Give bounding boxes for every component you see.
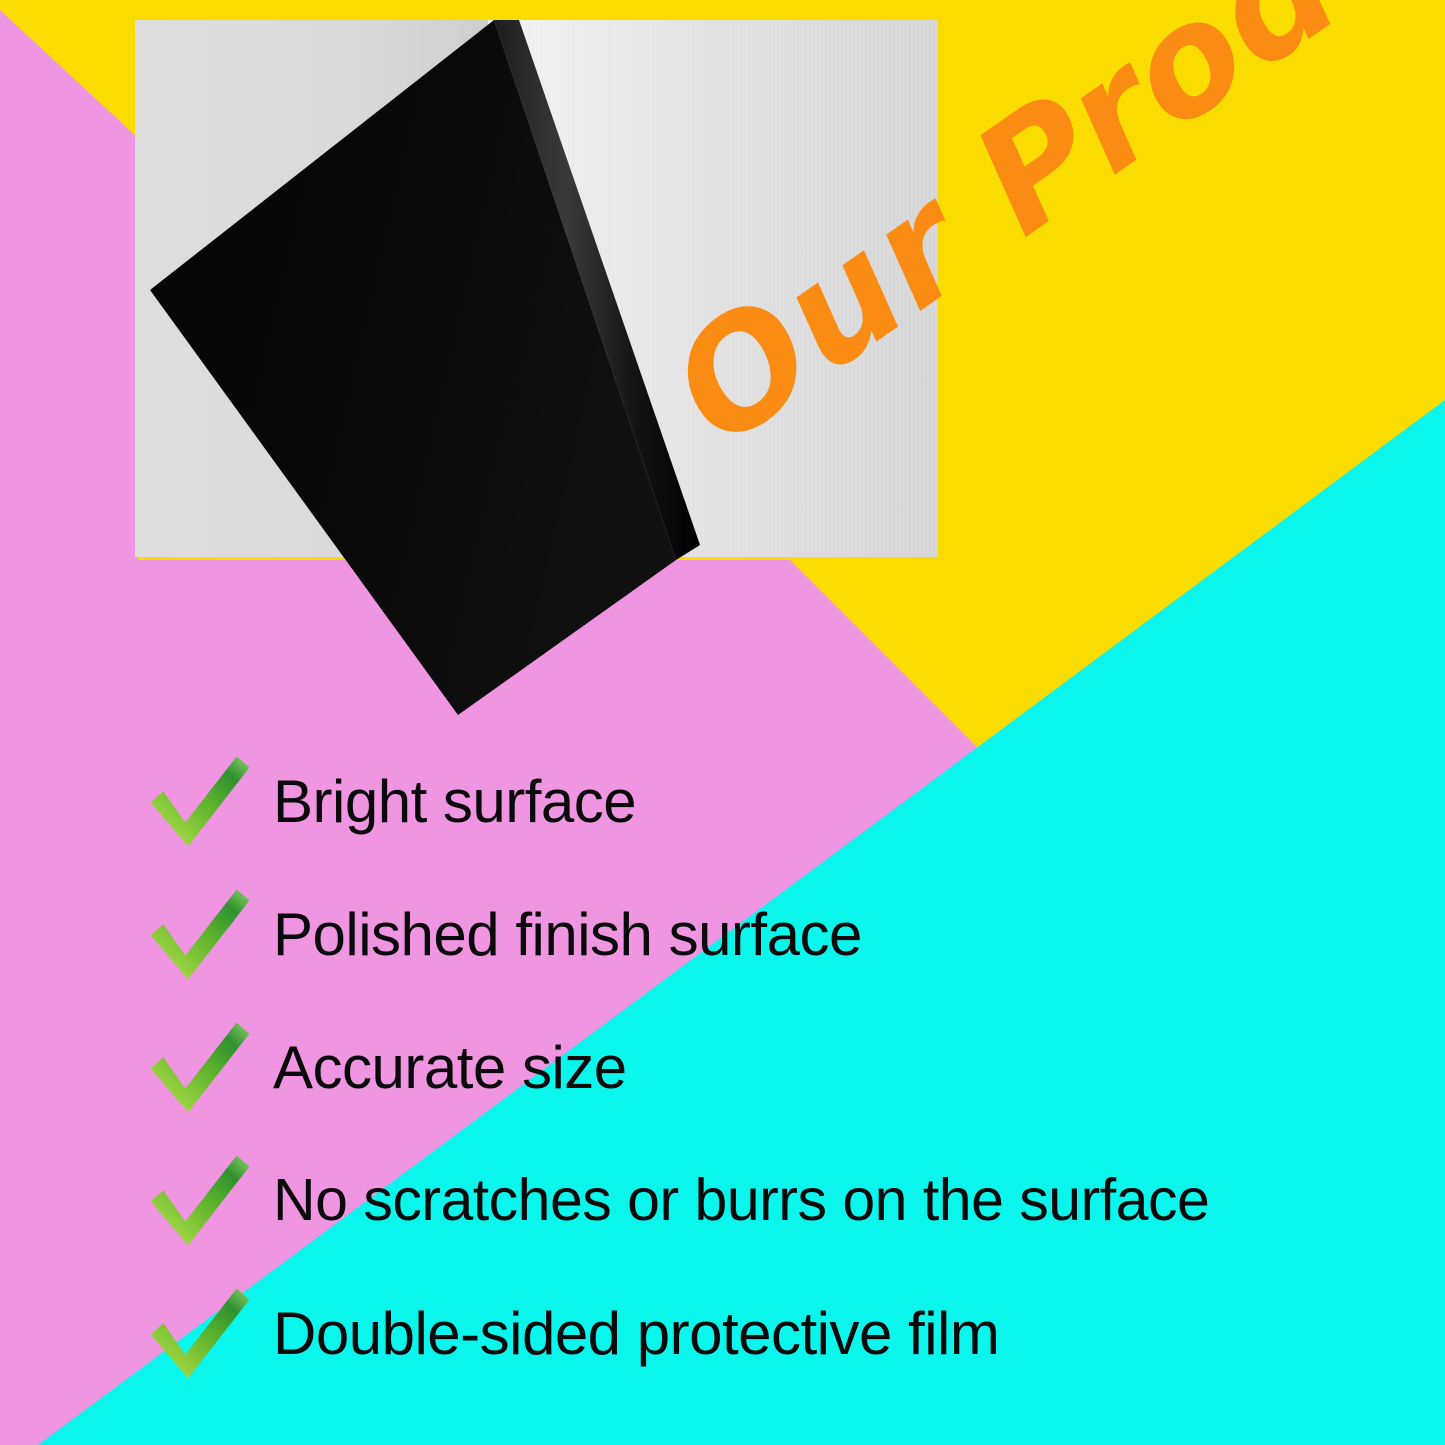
green-checkmark-icon bbox=[145, 1283, 255, 1384]
green-checkmark-icon bbox=[145, 1150, 255, 1251]
feature-label: No scratches or burrs on the surface bbox=[273, 1171, 1209, 1230]
feature-label: Double-sided protective film bbox=[273, 1304, 999, 1364]
green-checkmark-icon bbox=[145, 1017, 255, 1118]
green-checkmark-icon bbox=[145, 751, 255, 852]
list-item: Bright surface bbox=[0, 735, 1445, 868]
sheet-fold-shadow bbox=[135, 20, 488, 557]
feature-label: Accurate size bbox=[273, 1038, 627, 1098]
list-item: Polished finish surface bbox=[0, 868, 1445, 1001]
list-item: Double-sided protective film bbox=[0, 1267, 1445, 1400]
list-item: Accurate size bbox=[0, 1001, 1445, 1134]
feature-label: Bright surface bbox=[273, 772, 636, 832]
feature-label: Polished finish surface bbox=[273, 905, 862, 965]
green-checkmark-icon bbox=[145, 884, 255, 985]
list-item: No scratches or burrs on the surface bbox=[0, 1134, 1445, 1267]
product-poster: Our Product Bright surface bbox=[0, 0, 1445, 1445]
feature-list: Bright surface Polished finish surface A… bbox=[0, 735, 1445, 1400]
